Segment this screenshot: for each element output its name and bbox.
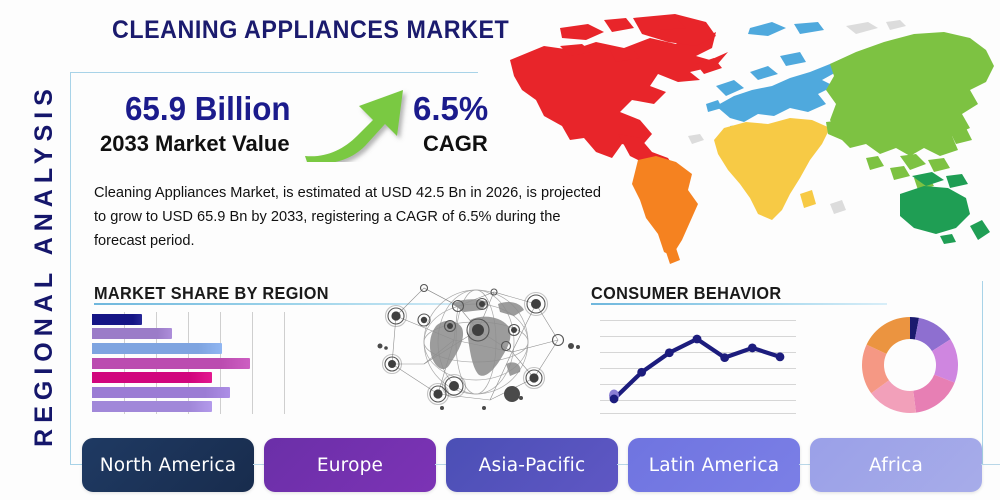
region-button-latin-america[interactable]: Latin America xyxy=(628,438,800,492)
line-chart-marker xyxy=(720,353,729,362)
infographic-canvas: REGIONAL ANALYSIS CLEANING APPLIANCES MA… xyxy=(0,0,1000,500)
market-summary-text: Cleaning Appliances Market, is estimated… xyxy=(94,181,604,253)
section-title-consumer-behavior: CONSUMER BEHAVIOR xyxy=(591,283,781,304)
line-chart-marker xyxy=(637,368,646,377)
line-chart-marker xyxy=(693,335,702,344)
line-chart-marker xyxy=(776,352,785,361)
region-button-label: Africa xyxy=(869,455,923,476)
cagr-caption: CAGR xyxy=(423,131,488,157)
bar-chart-bar xyxy=(92,343,222,354)
bar-chart-row xyxy=(92,343,292,354)
region-button-row: North AmericaEuropeAsia-PacificLatin Ame… xyxy=(82,438,983,492)
hero-stats: 65.9 Billion 2033 Market Value 6.5% CAGR xyxy=(95,92,495,167)
bar-chart-bar xyxy=(92,372,212,383)
line-chart-marker xyxy=(665,348,674,357)
bar-chart-bar xyxy=(92,358,250,369)
vertical-section-label: REGIONAL ANALYSIS xyxy=(30,65,70,465)
line-chart-marker xyxy=(748,344,757,353)
bar-chart-row xyxy=(92,328,292,339)
bar-chart-row xyxy=(92,387,292,398)
bar-chart-bar xyxy=(92,328,172,339)
market-value-caption: 2033 Market Value xyxy=(100,131,290,157)
consumer-behavior-line-chart xyxy=(600,312,796,415)
regional-split-donut-chart xyxy=(856,311,964,419)
bar-chart-bar xyxy=(92,387,230,398)
bar-chart-bar xyxy=(92,401,212,412)
region-button-label: North America xyxy=(100,455,237,476)
region-button-asia-pacific[interactable]: Asia-Pacific xyxy=(446,438,618,492)
region-connector-tail xyxy=(981,464,1000,465)
page-title: CLEANING APPLIANCES MARKET xyxy=(112,16,509,45)
region-button-north-america[interactable]: North America xyxy=(82,438,254,492)
bar-chart-row xyxy=(92,401,292,412)
global-network-icon xyxy=(366,268,586,420)
bar-chart-row xyxy=(92,358,292,369)
growth-arrow-icon xyxy=(303,84,413,162)
cagr-figure: 6.5% xyxy=(413,90,488,128)
region-button-label: Latin America xyxy=(649,455,780,476)
bar-chart-bar xyxy=(92,314,142,325)
section-title-market-share: MARKET SHARE BY REGION xyxy=(94,283,329,304)
region-button-label: Asia-Pacific xyxy=(479,455,586,476)
region-button-africa[interactable]: Africa xyxy=(810,438,982,492)
market-value-figure: 65.9 Billion xyxy=(125,90,291,128)
donut-segment xyxy=(913,375,954,413)
region-button-label: Europe xyxy=(317,455,383,476)
market-share-bar-chart xyxy=(92,312,292,414)
section-rule-right xyxy=(591,303,887,305)
line-chart-marker xyxy=(610,395,619,404)
region-button-europe[interactable]: Europe xyxy=(264,438,436,492)
bar-chart-row xyxy=(92,314,292,325)
bar-chart-row xyxy=(92,372,292,383)
